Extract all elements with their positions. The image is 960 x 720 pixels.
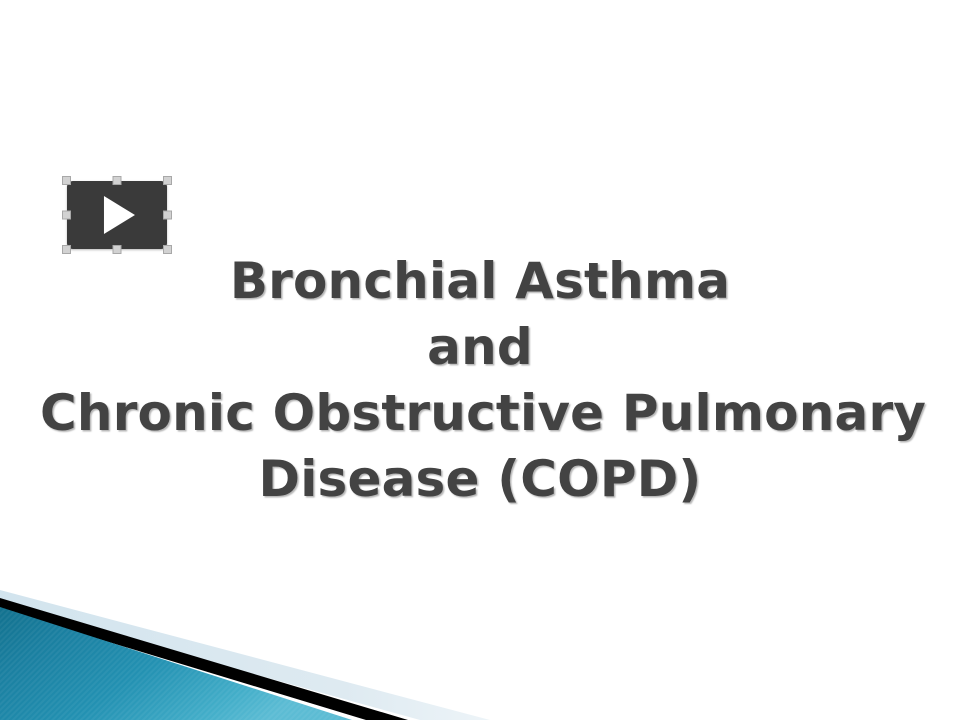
title-line-2: and — [40, 314, 920, 380]
resize-handle-top-left[interactable] — [62, 176, 71, 185]
corner-band-graphic — [0, 590, 520, 720]
play-icon — [104, 196, 135, 234]
resize-handle-top-center[interactable] — [113, 176, 122, 185]
resize-handle-top-right[interactable] — [163, 176, 172, 185]
resize-handle-middle-right[interactable] — [163, 211, 172, 220]
band-light — [0, 590, 490, 720]
video-frame[interactable] — [67, 181, 167, 249]
slide-canvas: Bronchial Asthma and Chronic Obstructive… — [0, 0, 960, 720]
video-placeholder[interactable] — [62, 176, 172, 254]
resize-handle-middle-left[interactable] — [62, 211, 71, 220]
title-line-1: Bronchial Asthma — [40, 248, 920, 314]
band-black — [0, 598, 408, 720]
band-teal — [0, 607, 352, 720]
band-teal-texture — [0, 607, 352, 720]
title-line-3: Chronic Obstructive Pulmonary — [40, 380, 920, 446]
title-line-4: Disease (COPD) — [40, 446, 920, 512]
slide-title: Bronchial Asthma and Chronic Obstructive… — [40, 248, 920, 512]
